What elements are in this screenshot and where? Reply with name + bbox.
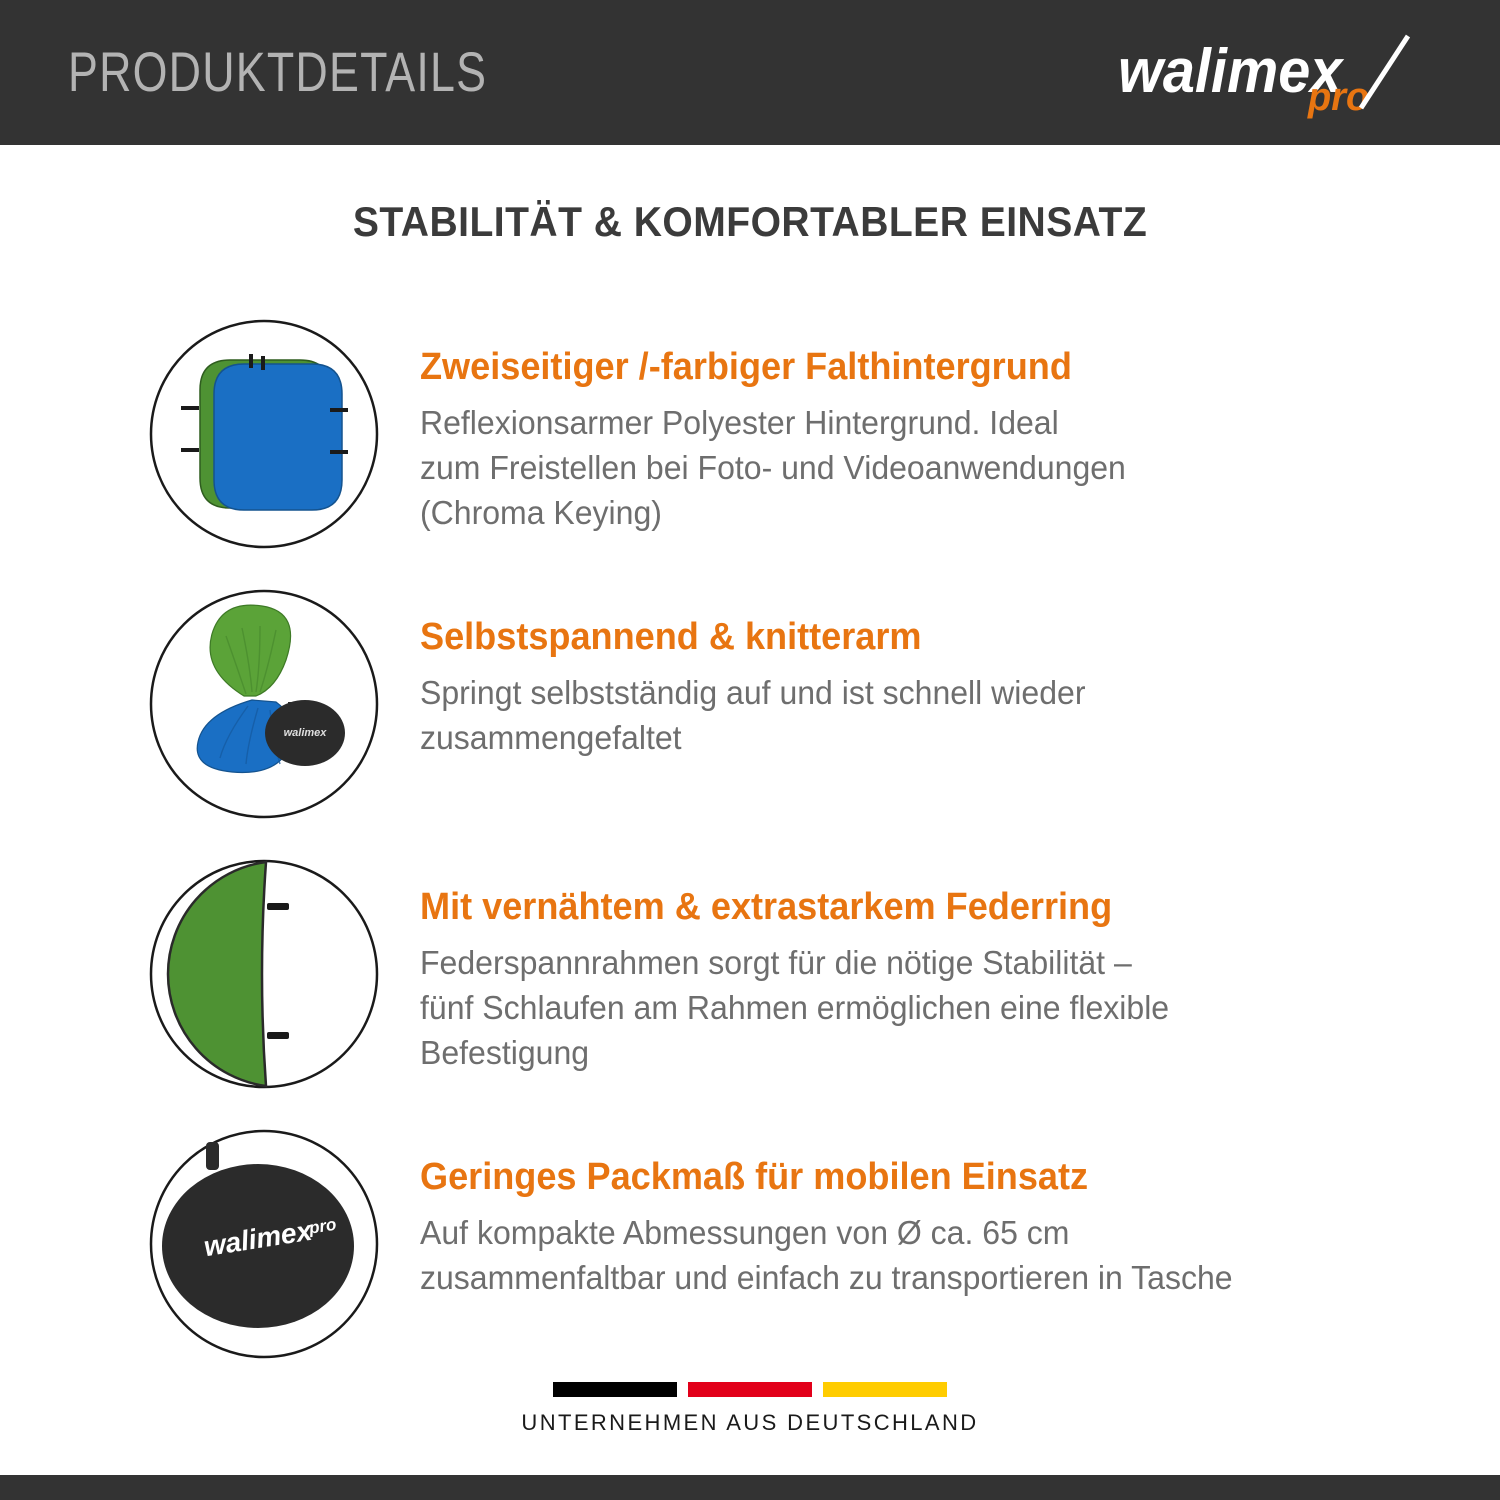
section-headline: STABILITÄT & KOMFORTABLER EINSATZ [53, 198, 1448, 246]
bottom-bar [0, 1475, 1500, 1500]
feature-item: walimex pro Geringes Packmaß für mobilen… [0, 1128, 1500, 1398]
german-flag-icon [0, 1382, 1500, 1397]
logo-slash-icon [1361, 36, 1408, 108]
feature-item: Mit vernähtem & extrastarkem Federring F… [0, 858, 1500, 1128]
footer-caption: UNTERNEHMEN AUS DEUTSCHLAND [0, 1410, 1500, 1436]
feature-title: Geringes Packmaß für mobilen Einsatz [420, 1154, 1380, 1200]
feature-description: Federspannrahmen sorgt für die nötige St… [420, 940, 1400, 1075]
flag-bar-black [553, 1382, 677, 1397]
feature-item: walimex Selbstspannend & knitterarm Spri… [0, 588, 1500, 858]
walimex-pro-logo: walimex pro [1118, 30, 1448, 120]
feature-description: Reflexionsarmer Polyester Hintergrund. I… [420, 400, 1400, 535]
green-backdrop-spring-frame-icon [148, 858, 380, 1090]
flag-bar-red [688, 1382, 812, 1397]
feature-text-block: Mit vernähtem & extrastarkem Federring F… [420, 884, 1430, 1075]
logo-suffix-text: pro [1307, 75, 1369, 119]
feature-description: Auf kompakte Abmessungen von Ø ca. 65 cm… [420, 1210, 1400, 1300]
feature-title: Zweiseitiger /-farbiger Falthintergrund [420, 344, 1380, 390]
flag-bar-gold [823, 1382, 947, 1397]
folding-backdrop-blue-green-icon [148, 318, 380, 550]
twisted-backdrop-with-bag-icon: walimex [148, 588, 380, 820]
feature-title: Mit vernähtem & extrastarkem Federring [420, 884, 1380, 930]
page-header: PRODUKTDETAILS walimex pro [0, 0, 1500, 145]
product-details-page: PRODUKTDETAILS walimex pro STABILITÄT & … [0, 0, 1500, 1500]
black-carry-bag-icon: walimex pro [148, 1128, 380, 1360]
feature-text-block: Geringes Packmaß für mobilen Einsatz Auf… [420, 1154, 1430, 1300]
footer: UNTERNEHMEN AUS DEUTSCHLAND [0, 1382, 1500, 1436]
svg-text:walimex: walimex [284, 727, 328, 739]
feature-list: Zweiseitiger /-farbiger Falthintergrund … [0, 318, 1500, 1398]
feature-text-block: Zweiseitiger /-farbiger Falthintergrund … [420, 344, 1430, 535]
feature-title: Selbstspannend & knitterarm [420, 614, 1380, 660]
feature-item: Zweiseitiger /-farbiger Falthintergrund … [0, 318, 1500, 588]
feature-description: Springt selbstständig auf und ist schnel… [420, 670, 1400, 760]
feature-text-block: Selbstspannend & knitterarm Springt selb… [420, 614, 1430, 760]
page-title: PRODUKTDETAILS [68, 42, 487, 102]
